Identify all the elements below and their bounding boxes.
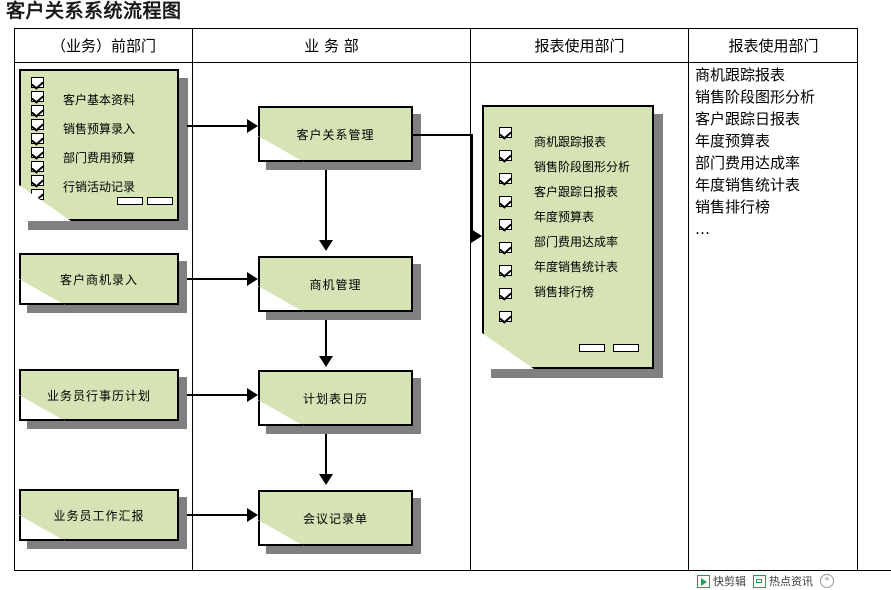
list-item: 销售阶段图形分析 [695, 86, 870, 108]
list-item: … [695, 218, 870, 240]
check-icon [31, 91, 44, 102]
list-item: 行销活动记录 [63, 181, 135, 193]
toolbar-item-quick-clip[interactable]: 快剪辑 [697, 573, 746, 589]
checklist-lines: 客户基本资料 销售预算录入 部门费用预算 行销活动记录 [63, 94, 135, 193]
arrow-down-icon [319, 240, 333, 251]
check-icon [499, 150, 512, 161]
connector-line [187, 514, 249, 516]
toolbar-item-hot-news[interactable]: 热点资讯 [753, 573, 813, 589]
header-divider [15, 62, 857, 63]
column-header-report-department-1: 报表使用部门 [471, 33, 688, 59]
check-icon [499, 196, 512, 207]
mini-button[interactable] [147, 197, 173, 205]
check-icon [31, 119, 44, 130]
connector-line [325, 320, 327, 358]
list-item: 年度预算表 [534, 211, 630, 223]
document-schedule-calendar[interactable]: 计划表日历 [258, 370, 413, 426]
connector-line [187, 394, 249, 396]
check-icon [499, 288, 512, 299]
mini-button[interactable] [613, 344, 639, 352]
column-header-report-department-2: 报表使用部门 [689, 33, 858, 59]
check-icon [499, 219, 512, 230]
arrow-right-icon [247, 119, 258, 133]
arrow-down-icon [319, 356, 333, 367]
list-item: 年度销售统计表 [534, 261, 630, 273]
connector-line [325, 170, 327, 242]
checkbox-column [499, 127, 512, 334]
checkbox-column [31, 77, 44, 203]
toolbar-item-compass[interactable]: ⌖ [820, 574, 834, 588]
connector-line [471, 134, 473, 236]
mini-button[interactable] [117, 197, 143, 205]
column-header-business-department: 业 务 部 [193, 33, 470, 59]
news-icon [753, 575, 766, 588]
arrow-right-icon [247, 508, 258, 522]
check-icon [499, 311, 512, 322]
column-divider-3 [688, 29, 689, 570]
check-icon [31, 147, 44, 158]
check-icon [31, 161, 44, 172]
bottom-toolbar: 快剪辑 热点资讯 ⌖ [697, 572, 834, 590]
list-item: 部门费用达成率 [534, 236, 630, 248]
check-icon [499, 242, 512, 253]
check-icon [499, 265, 512, 276]
page-title: 客户关系系统流程图 [6, 0, 182, 24]
arrow-down-icon [319, 474, 333, 485]
list-item: 商机跟踪报表 [534, 136, 630, 148]
arrow-right-icon [471, 229, 482, 243]
list-item: 年度销售统计表 [695, 174, 870, 196]
compass-icon: ⌖ [820, 574, 834, 588]
connector-line [187, 125, 249, 127]
document-salesperson-work-report[interactable]: 业务员工作汇报 [19, 489, 179, 541]
toolbar-label: 快剪辑 [713, 573, 746, 589]
connector-line [325, 434, 327, 476]
list-item: 客户基本资料 [63, 94, 135, 106]
list-item: 销售排行榜 [534, 286, 630, 298]
document-salesperson-calendar-plan[interactable]: 业务员行事历计划 [19, 369, 179, 421]
column-header-front-department: （业务）前部门 [15, 33, 192, 59]
list-item: 销售阶段图形分析 [534, 161, 630, 173]
column-divider-2 [470, 29, 471, 570]
report-text-list: 商机跟踪报表 销售阶段图形分析 客户跟踪日报表 年度预算表 部门费用达成率 年度… [695, 64, 870, 240]
list-item: 销售预算录入 [63, 123, 135, 135]
list-item: 年度预算表 [695, 130, 870, 152]
check-icon [499, 127, 512, 138]
arrow-right-icon [247, 388, 258, 402]
list-item: 部门费用预算 [63, 152, 135, 164]
check-icon [499, 173, 512, 184]
report-checklist-lines: 商机跟踪报表 销售阶段图形分析 客户跟踪日报表 年度预算表 部门费用达成率 年度… [534, 136, 630, 298]
video-clip-icon [697, 575, 710, 588]
document-opportunity-management[interactable]: 商机管理 [258, 256, 413, 312]
list-item: 商机跟踪报表 [695, 64, 870, 86]
document-crm-management[interactable]: 客户关系管理 [258, 106, 413, 162]
flowchart-table: （业务）前部门 业 务 部 报表使用部门 报表使用部门 客户基本资料 销售预算录… [14, 28, 858, 571]
connector-line [411, 134, 473, 136]
document-customer-opportunity-entry[interactable]: 客户商机录入 [19, 253, 179, 305]
arrow-right-icon [247, 272, 258, 286]
document-meeting-minutes[interactable]: 会议记录单 [258, 490, 413, 546]
column-divider-1 [192, 29, 193, 570]
toolbar-label: 热点资讯 [769, 573, 813, 589]
check-icon [31, 175, 44, 186]
check-icon [31, 133, 44, 144]
checklist-document-front-department[interactable]: 客户基本资料 销售预算录入 部门费用预算 行销活动记录 [19, 69, 179, 221]
mini-button[interactable] [579, 344, 605, 352]
list-item: 客户跟踪日报表 [695, 108, 870, 130]
list-item: 销售排行榜 [695, 196, 870, 218]
connector-line [187, 278, 249, 280]
list-item: 客户跟踪日报表 [534, 186, 630, 198]
check-icon [31, 77, 44, 88]
check-icon [31, 105, 44, 116]
bottom-divider [697, 570, 891, 571]
list-item: 部门费用达成率 [695, 152, 870, 174]
checklist-document-reports[interactable]: 商机跟踪报表 销售阶段图形分析 客户跟踪日报表 年度预算表 部门费用达成率 年度… [482, 105, 654, 369]
